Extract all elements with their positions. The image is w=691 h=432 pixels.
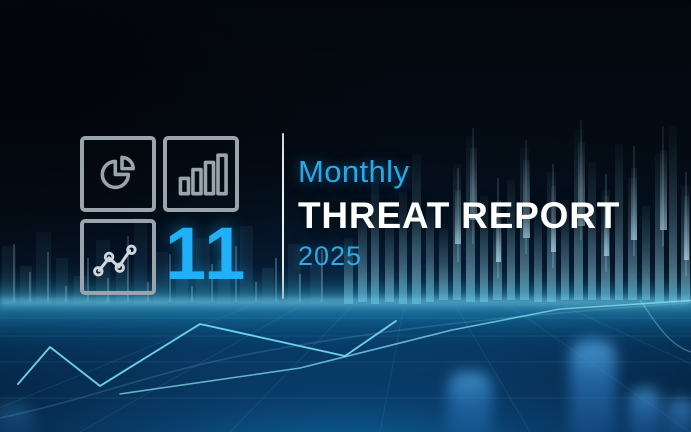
issue-number: 11 — [165, 216, 241, 296]
page-title: THREAT REPORT — [298, 195, 620, 236]
bar-chart-icon — [163, 136, 239, 212]
year-text: 2025 — [298, 241, 620, 271]
line-chart-icon — [80, 219, 156, 295]
title-block: Monthly THREAT REPORT 2025 — [298, 155, 620, 271]
threat-report-banner: 11 Monthly THREAT REPORT 2025 — [0, 0, 691, 432]
pie-chart-icon — [80, 136, 156, 212]
vertical-divider — [282, 133, 284, 299]
kicker-text: Monthly — [298, 155, 620, 189]
